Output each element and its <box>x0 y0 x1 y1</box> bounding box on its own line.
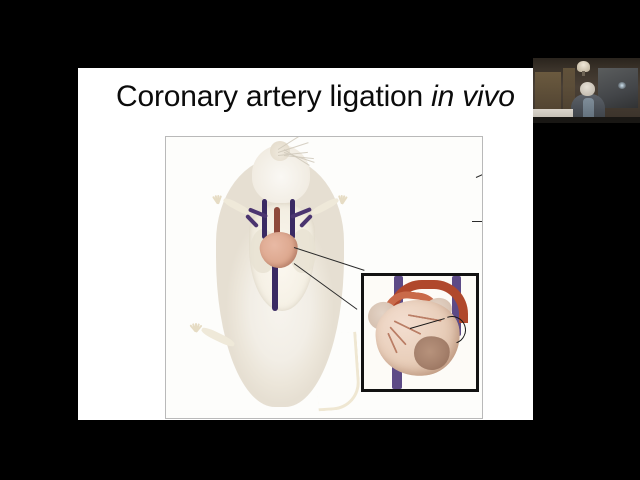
rat-hindpaw-left <box>188 323 204 339</box>
slide-title: Coronary artery ligation in vivo <box>116 80 533 114</box>
video-player-frame: Coronary artery ligation in vivo <box>0 0 640 480</box>
vessel-trunk-right <box>290 199 295 239</box>
coronary-label-leader <box>476 168 483 178</box>
rat-illustration: Coronary artery ligated inducing an infa… <box>166 137 482 418</box>
magnified-heart-inset <box>361 273 479 392</box>
rat-tail <box>313 332 361 412</box>
presentation-slide: Coronary artery ligation in vivo <box>78 68 533 420</box>
presenter-webcam-overlay[interactable] <box>533 58 640 123</box>
slide-title-italic: in vivo <box>431 80 515 113</box>
slide-title-main: Coronary artery ligation <box>116 80 431 113</box>
infarct-label-leader <box>472 221 483 222</box>
rat-paw-right <box>334 195 350 211</box>
presenter-head <box>580 82 595 96</box>
figure-frame: Coronary artery ligated inducing an infa… <box>165 136 483 419</box>
rat-paw-left <box>210 195 226 211</box>
lamp-stem <box>582 71 585 76</box>
screen-glow <box>618 82 626 89</box>
vessel-trunk-left <box>262 199 267 239</box>
webcam-floor <box>533 117 640 123</box>
